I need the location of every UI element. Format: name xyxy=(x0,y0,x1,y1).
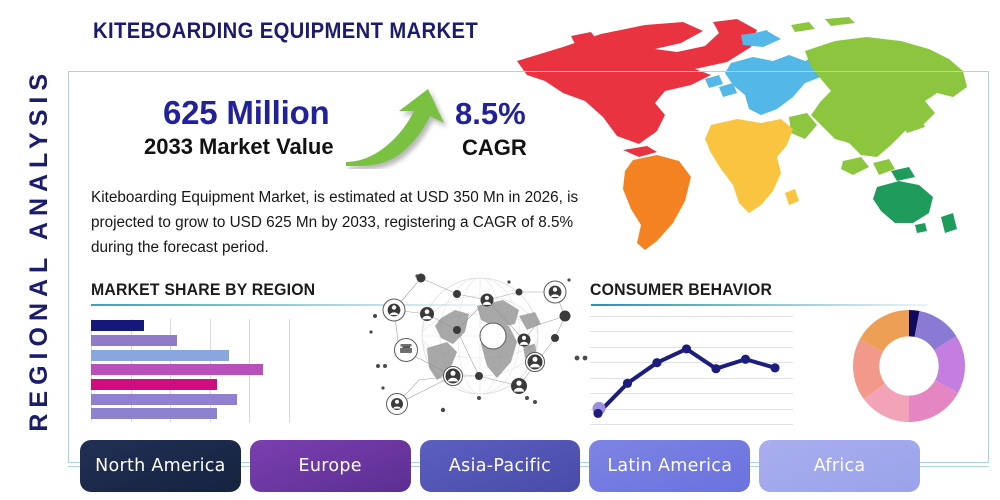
region-tab-asia-pacific[interactable]: Asia-Pacific xyxy=(420,440,581,492)
line-marker xyxy=(593,409,602,418)
tab-connector xyxy=(580,466,589,467)
line-marker xyxy=(741,355,750,364)
region-tab-label: Europe xyxy=(299,456,362,476)
bar-row xyxy=(91,379,217,390)
infographic-root: REGIONAL ANALYSIS KITEBOARDING EQUIPMENT… xyxy=(0,0,1000,500)
cagr-number: 8.5% xyxy=(455,96,526,132)
line-marker xyxy=(682,344,691,353)
consumer-behavior-heading: CONSUMER BEHAVIOR xyxy=(590,280,772,300)
line-marker xyxy=(711,364,720,373)
consumer-behavior-line-chart xyxy=(590,316,793,426)
cagr-caption: CAGR xyxy=(462,135,527,161)
region-tabs: North AmericaEuropeAsia-PacificLatin Ame… xyxy=(80,440,920,492)
region-tab-europe[interactable]: Europe xyxy=(250,440,411,492)
market-share-heading: MARKET SHARE BY REGION xyxy=(91,280,315,300)
region-tab-label: North America xyxy=(95,456,226,476)
tab-connector-left xyxy=(68,466,80,467)
bar-row xyxy=(91,335,177,346)
bar xyxy=(91,394,237,405)
tab-connector xyxy=(241,466,250,467)
consumer-segments-donut-chart xyxy=(849,306,969,426)
tab-connector-right xyxy=(920,466,989,467)
region-tab-latin-america[interactable]: Latin America xyxy=(589,440,750,492)
bar-row xyxy=(91,350,229,361)
region-tab-label: Asia-Pacific xyxy=(449,456,551,476)
market-share-bar-chart xyxy=(91,319,289,422)
region-tab-label: Africa xyxy=(814,456,866,476)
line-marker xyxy=(623,379,632,388)
vertical-section-label-text: REGIONAL ANALYSIS xyxy=(25,68,54,432)
market-value-caption: 2033 Market Value xyxy=(144,134,334,160)
bar xyxy=(91,379,217,390)
line-series xyxy=(590,316,793,426)
vertical-section-label: REGIONAL ANALYSIS xyxy=(10,0,68,500)
line-marker xyxy=(770,363,779,372)
global-network-globe-icon xyxy=(369,270,591,425)
bar xyxy=(91,350,229,361)
region-tab-africa[interactable]: Africa xyxy=(759,440,920,492)
bar-gridline xyxy=(289,319,290,422)
donut-svg xyxy=(849,306,969,426)
region-tab-label: Latin America xyxy=(607,456,732,476)
region-tab-north-america[interactable]: North America xyxy=(80,440,241,492)
bar xyxy=(91,408,217,419)
bar-row xyxy=(91,364,263,375)
bar-row xyxy=(91,320,144,331)
market-value-number: 625 Million xyxy=(163,94,330,132)
bar xyxy=(91,335,177,346)
bar-row xyxy=(91,394,237,405)
bar-row xyxy=(91,408,217,419)
tab-connector xyxy=(750,466,759,467)
tab-connector xyxy=(411,466,420,467)
line-marker xyxy=(652,358,661,367)
growth-arrow-icon xyxy=(344,89,454,169)
description-text: Kiteboarding Equipment Market, is estima… xyxy=(91,185,596,260)
main-content-panel: 625 Million 2033 Market Value 8.5% CAGR … xyxy=(68,71,989,463)
bar xyxy=(91,364,263,375)
page-title: KITEBOARDING EQUIPMENT MARKET xyxy=(93,18,478,44)
kpi-row: 625 Million 2033 Market Value 8.5% CAGR xyxy=(114,94,544,174)
bar xyxy=(91,320,144,331)
